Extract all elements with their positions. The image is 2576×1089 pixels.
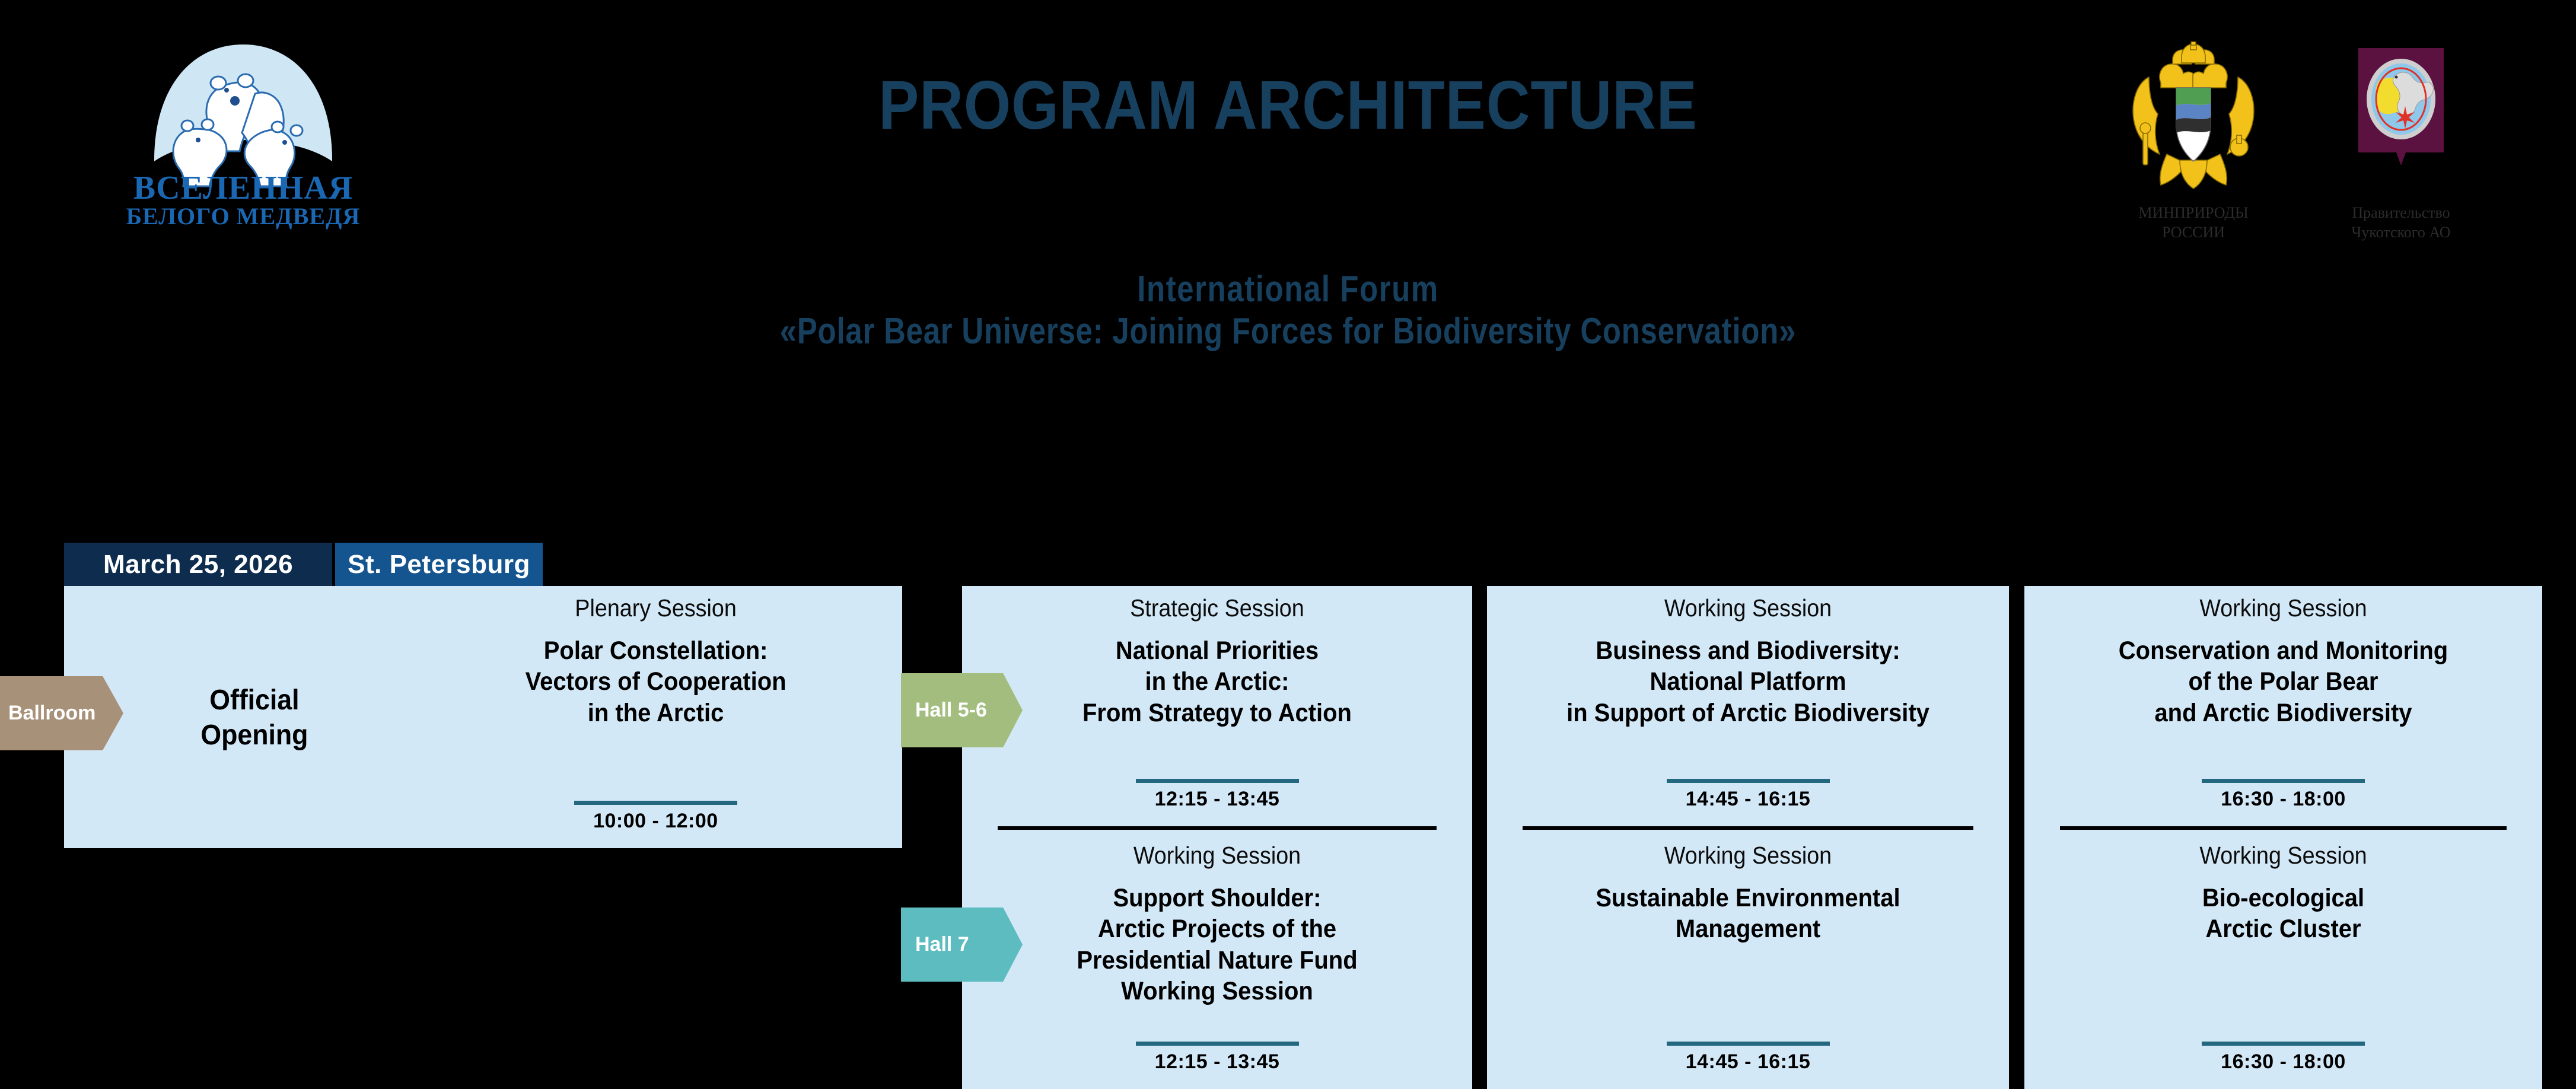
session-title: Support Shoulder: Arctic Projects of the… bbox=[996, 883, 1438, 1007]
session-time-block: 12:15 - 13:45 bbox=[962, 779, 1472, 811]
time-divider bbox=[1667, 779, 1830, 783]
session-card-bioecological-cluster[interactable]: Working Session Bio-ecological Arctic Cl… bbox=[2024, 826, 2542, 1089]
session-opening: Official Opening bbox=[82, 594, 427, 848]
day-tabs: March 25, 2026 St. Petersburg bbox=[64, 543, 543, 586]
session-time-block: 14:45 - 16:15 bbox=[1487, 1042, 2009, 1074]
venue-tag-label: Ballroom bbox=[0, 702, 95, 725]
forum-subtitle: International Forum «Polar Bear Universe… bbox=[232, 270, 2344, 353]
session-title: Business and Biodiversity: National Plat… bbox=[1522, 635, 1975, 728]
time-divider bbox=[574, 801, 737, 805]
page-title: PROGRAM ARCHITECTURE bbox=[155, 65, 2422, 145]
session-opening-title: Official Opening bbox=[94, 683, 415, 753]
emblem-chukotka: Правительство Чукотского АО bbox=[2327, 33, 2475, 242]
session-time-block: 14:45 - 16:15 bbox=[1487, 779, 2009, 811]
chukotka-coat-of-arms-emblem bbox=[2327, 33, 2475, 199]
emblem-minprirody: МИНПРИРОДЫ РОССИИ bbox=[2119, 33, 2268, 242]
venue-tag-ballroom[interactable]: Ballroom bbox=[0, 676, 123, 750]
session-card-sustainable-management[interactable]: Working Session Sustainable Environmenta… bbox=[1487, 826, 2009, 1089]
venue-tag-hall-7[interactable]: Hall 7 bbox=[901, 907, 1023, 982]
session-type: Plenary Session bbox=[445, 594, 867, 622]
session-time: 12:15 - 13:45 bbox=[962, 1050, 1472, 1074]
forum-subtitle-line2: «Polar Bear Universe: Joining Forces for… bbox=[232, 310, 2344, 353]
forum-subtitle-line1: International Forum bbox=[232, 270, 2344, 310]
schedule-column-2: Strategic Session National Priorities in… bbox=[962, 586, 1472, 1089]
venue-tag-label: Hall 5-6 bbox=[901, 699, 987, 722]
session-title: National Priorities in the Arctic: From … bbox=[996, 635, 1438, 728]
session-time: 12:15 - 13:45 bbox=[962, 788, 1472, 811]
session-card-conservation-monitoring[interactable]: Working Session Conservation and Monitor… bbox=[2024, 586, 2542, 826]
session-time: 16:30 - 18:00 bbox=[2024, 1050, 2542, 1074]
russian-double-headed-eagle-emblem bbox=[2119, 33, 2268, 199]
session-type: Working Session bbox=[1524, 842, 1972, 870]
session-card-business-biodiversity[interactable]: Working Session Business and Biodiversit… bbox=[1487, 586, 2009, 826]
schedule-column-1: Official Opening Plenary Session Polar C… bbox=[64, 586, 902, 848]
session-time-block: 10:00 - 12:00 bbox=[427, 801, 884, 833]
time-divider bbox=[1667, 1042, 1830, 1046]
page-header: ВСЕЛЕННАЯ БЕЛОГО МЕДВЕДЯ PROGRAM ARCHITE… bbox=[0, 0, 2576, 409]
session-title: Polar Constellation: Vectors of Cooperat… bbox=[443, 635, 868, 728]
venue-tag-label: Hall 7 bbox=[901, 933, 969, 956]
venue-tag-hall-5-6[interactable]: Hall 5-6 bbox=[901, 673, 1023, 747]
session-time-block: 12:15 - 13:45 bbox=[962, 1042, 1472, 1074]
session-type: Working Session bbox=[2062, 842, 2505, 870]
session-title: Conservation and Monitoring of the Polar… bbox=[2059, 635, 2507, 728]
session-title: Sustainable Environmental Management bbox=[1522, 883, 1975, 945]
logo-text-line2: БЕЛОГО МЕДВЕДЯ bbox=[126, 203, 361, 230]
session-time: 14:45 - 16:15 bbox=[1487, 788, 2009, 811]
session-plenary: Plenary Session Polar Constellation: Vec… bbox=[427, 594, 884, 848]
session-time-block: 16:30 - 18:00 bbox=[2024, 1042, 2542, 1074]
emblem-caption: МИНПРИРОДЫ РОССИИ bbox=[2119, 203, 2268, 242]
time-divider bbox=[1136, 1042, 1299, 1046]
session-card-strategic[interactable]: Strategic Session National Priorities in… bbox=[962, 586, 1472, 826]
session-time: 10:00 - 12:00 bbox=[427, 810, 884, 833]
tab-city[interactable]: St. Petersburg bbox=[335, 543, 543, 586]
session-type: Working Session bbox=[1524, 594, 1972, 622]
session-time: 16:30 - 18:00 bbox=[2024, 788, 2542, 811]
time-divider bbox=[2202, 1042, 2365, 1046]
session-title: Bio-ecological Arctic Cluster bbox=[2059, 883, 2507, 945]
emblem-caption: Правительство Чукотского АО bbox=[2327, 203, 2475, 242]
time-divider bbox=[2202, 779, 2365, 783]
time-divider bbox=[1136, 779, 1299, 783]
session-time: 14:45 - 16:15 bbox=[1487, 1050, 2009, 1074]
partner-emblems: МИНПРИРОДЫ РОССИИ Правительство Чукотск bbox=[2119, 33, 2475, 242]
schedule-column-4: Working Session Conservation and Monitor… bbox=[2024, 586, 2542, 1089]
session-card-working-hall7[interactable]: Working Session Support Shoulder: Arctic… bbox=[962, 826, 1472, 1089]
session-card-plenary[interactable]: Official Opening Plenary Session Polar C… bbox=[64, 586, 902, 848]
schedule-column-3: Working Session Business and Biodiversit… bbox=[1487, 586, 2009, 1089]
tab-date[interactable]: March 25, 2026 bbox=[64, 543, 332, 586]
session-time-block: 16:30 - 18:00 bbox=[2024, 779, 2542, 811]
session-type: Working Session bbox=[999, 842, 1435, 870]
schedule-grid: Official Opening Plenary Session Polar C… bbox=[0, 586, 2576, 1089]
logo-text-line1: ВСЕЛЕННАЯ bbox=[133, 170, 353, 206]
session-type: Working Session bbox=[2062, 594, 2505, 622]
session-type: Strategic Session bbox=[999, 594, 1435, 622]
